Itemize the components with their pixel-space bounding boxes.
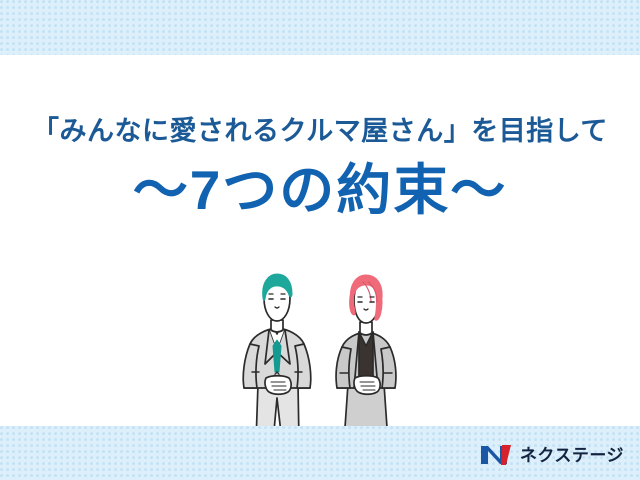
brand-logo: ネクステージ <box>480 440 624 470</box>
headline-block: 「みんなに愛されるクルマ屋さん」を目指して 〜7つの約束〜 <box>0 118 640 218</box>
male-staff-figure <box>243 274 311 442</box>
female-staff-figure <box>336 275 396 442</box>
dotted-band-top <box>0 0 640 55</box>
promo-banner: 「みんなに愛されるクルマ屋さん」を目指して 〜7つの約束〜 <box>0 0 640 480</box>
nextage-n-mark <box>480 443 514 467</box>
page-subtitle: 〜7つの約束〜 <box>0 163 640 218</box>
page-title: 「みんなに愛されるクルマ屋さん」を目指して <box>0 118 640 145</box>
brand-wordmark: ネクステージ <box>520 447 624 464</box>
staff-illustration <box>230 272 430 442</box>
